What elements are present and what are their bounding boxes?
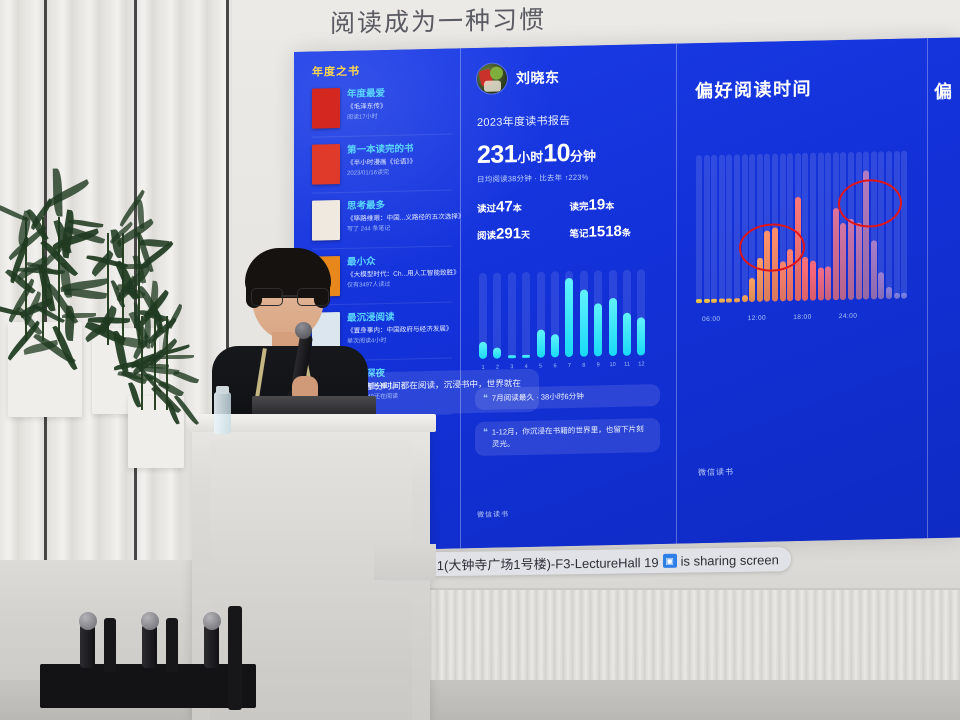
- podium-occlusion: [374, 544, 436, 580]
- hours-unit: 小时: [517, 150, 543, 166]
- chart-bar-track: [742, 154, 748, 302]
- chart-bar: [522, 355, 530, 358]
- chart-bar-track: [886, 151, 892, 299]
- chart-bar: [551, 334, 559, 357]
- stat-item: 读完19本: [570, 195, 663, 215]
- chart-bar: [508, 355, 516, 358]
- chart-bar: [704, 299, 710, 303]
- hourly-reading-chart: 06:0012:0018:0024:00: [694, 134, 916, 325]
- stat-item: 读过47本: [477, 197, 570, 217]
- book-meta: 阅读17小时: [347, 112, 387, 122]
- chart-bar: [493, 347, 501, 358]
- monthly-quote-2: ❝ 1-12月，你沉浸在书籍的世界里，也留下片刻灵光。: [475, 418, 660, 456]
- screen-share-icon: ▣: [663, 554, 677, 568]
- chart-bar: [565, 278, 573, 357]
- chart-x-label: 9: [593, 362, 603, 368]
- year-books-title: 年度之书: [312, 61, 452, 80]
- preferred-time-title: 偏好阅读时间: [695, 72, 913, 103]
- next-panel-glyph: 偏: [934, 77, 960, 104]
- book-cover: [312, 88, 340, 129]
- chart-bar: [734, 298, 740, 302]
- average-reading-line: 日均阅读38分钟 · 比去年 ↑223%: [477, 170, 662, 185]
- avatar: [477, 63, 507, 94]
- stat-unit: 天: [521, 230, 530, 240]
- chart-bar: [878, 272, 884, 299]
- chart-x-label: 12: [636, 361, 646, 367]
- stat-label: 阅读: [477, 231, 496, 242]
- total-hours-value: 231: [477, 140, 517, 169]
- chart-bar: [840, 223, 846, 300]
- chart-bar: [901, 293, 907, 299]
- chart-bar: [537, 329, 545, 358]
- radiator-grille: [420, 588, 960, 684]
- chart-bar: [726, 298, 732, 302]
- chart-bar: [818, 268, 824, 301]
- book-award-label: 第一本读完的书: [347, 143, 416, 157]
- quote-mark-icon: ❝: [483, 427, 488, 451]
- chart-x-label: 18:00: [793, 314, 812, 321]
- microphone-body: [80, 624, 95, 668]
- chart-bar: [696, 299, 702, 303]
- stat-value: 1518: [589, 223, 622, 241]
- slide-heading: 阅读成为一种习惯: [330, 0, 546, 40]
- glasses-icon: [251, 288, 327, 304]
- screenshot-root: 阅读成为一种习惯 年度之书 年度最爱《毛泽东传》阅读17小时第一本读完的书《半小…: [0, 0, 960, 720]
- chart-bar-track: [696, 155, 702, 303]
- annual-report-panel: 刘晓东 2023年度读书报告 231小时10分钟 日均阅读38分钟 · 比去年 …: [461, 44, 676, 549]
- stat-item: 阅读291天: [477, 224, 570, 244]
- report-year-label: 2023年度读书报告: [477, 110, 662, 130]
- curtain-rod: [134, 0, 137, 600]
- chart-x-label: 12:00: [748, 315, 767, 322]
- chart-x-label: 8: [579, 363, 589, 369]
- total-minutes-value: 10: [543, 139, 570, 168]
- chart-x-label: 10: [608, 362, 618, 368]
- user-name: 刘晓东: [516, 67, 560, 88]
- book-meta: 写了 244 条笔记: [347, 223, 452, 234]
- chart-bar: [825, 266, 831, 300]
- stat-value: 19: [589, 196, 606, 213]
- book-cover: [312, 200, 340, 241]
- chart-bar-track: [726, 154, 732, 302]
- watermark-right: 微信读书: [698, 466, 734, 478]
- chart-bar-track: [704, 155, 710, 303]
- chart-x-label: 24:00: [839, 313, 858, 320]
- book-title: 《毛泽东传》: [347, 101, 387, 112]
- chart-bar: [609, 297, 617, 356]
- stat-unit: 本: [605, 201, 614, 211]
- book-award-label: 思考最多: [347, 199, 452, 213]
- water-bottle-cap: [216, 386, 229, 394]
- chart-x-label: 06:00: [702, 316, 721, 323]
- microphone-head-icon: [141, 612, 159, 630]
- chart-bar: [848, 218, 854, 300]
- user-row: 刘晓东: [477, 60, 662, 94]
- book-meta: 2023/01/16读完: [347, 168, 416, 179]
- mic-stand-clip: [166, 618, 178, 672]
- chart-bar-track: [894, 151, 900, 299]
- chart-bar: [856, 223, 862, 300]
- chart-bar-track: [901, 151, 907, 299]
- chart-bar-track: [493, 272, 501, 358]
- plant-leaf: [63, 305, 75, 340]
- book-award-label: 年度最爱: [347, 88, 387, 101]
- chart-bar: [623, 313, 631, 356]
- watermark-left: 微信读书: [477, 509, 509, 520]
- chart-bar: [833, 208, 839, 300]
- book-list-item: 思考最多《筚路维艰：中国...义路径的五次选择》写了 244 条笔记: [312, 198, 452, 241]
- monthly-reading-chart: 123456789101112: [477, 262, 657, 371]
- chart-bar: [810, 261, 816, 301]
- stand-post: [228, 606, 242, 710]
- stat-label: 读过: [477, 204, 496, 215]
- stat-unit: 条: [622, 228, 631, 238]
- chart-bar-track: [734, 154, 740, 302]
- chart-x-label: 11: [622, 362, 632, 368]
- monthly-quote-2-text: 1-12月，你沉浸在书籍的世界里，也留下片刻灵光。: [492, 423, 651, 450]
- chart-bar: [711, 299, 717, 303]
- microphone-body: [204, 624, 219, 668]
- stat-unit: 本: [513, 203, 522, 213]
- chart-bar: [580, 290, 588, 357]
- sharing-status-text: is sharing screen: [681, 552, 779, 568]
- chart-x-label: 5: [536, 364, 546, 370]
- chart-bar: [742, 295, 748, 303]
- water-bottle: [214, 392, 231, 434]
- microphone-head-icon: [79, 612, 97, 630]
- chart-bar-track: [508, 272, 516, 358]
- mic-charging-tray: [40, 664, 256, 708]
- stat-value: 47: [496, 198, 513, 215]
- chart-bar-track: [711, 155, 717, 303]
- chart-bar: [871, 240, 877, 299]
- chart-x-label: 6: [550, 363, 560, 369]
- chart-x-label: 7: [564, 363, 574, 369]
- microphone-head-icon: [203, 612, 221, 630]
- total-reading-time: 231小时10分钟: [477, 137, 662, 170]
- chart-bar: [594, 303, 602, 356]
- chart-bar: [479, 342, 487, 359]
- chart-bar: [749, 278, 755, 302]
- stat-label: 读完: [570, 202, 589, 213]
- microphone-body: [142, 624, 157, 668]
- chart-bar-track: [522, 272, 530, 358]
- stats-grid: 读过47本读完19本阅读291天笔记1518条: [477, 195, 662, 253]
- list-divider: [312, 190, 452, 194]
- book-list-item: 年度最爱《毛泽东传》阅读17小时: [312, 86, 452, 129]
- chart-bar: [719, 299, 725, 303]
- next-panel-clipped: 偏: [928, 37, 960, 538]
- chart-bar: [637, 318, 645, 356]
- chart-bar-track: [719, 155, 725, 303]
- chart-bar: [802, 256, 808, 301]
- mic-stand-clip: [104, 618, 116, 672]
- chart-bar: [894, 293, 900, 299]
- list-divider: [312, 134, 452, 138]
- stat-label: 笔记: [570, 229, 589, 240]
- book-title: 《半小时漫画《论语》》: [347, 157, 416, 169]
- chart-bar: [886, 287, 892, 299]
- stat-value: 291: [496, 225, 521, 243]
- minutes-unit: 分钟: [570, 148, 596, 164]
- book-cover: [312, 144, 340, 185]
- stat-item: 笔记1518条: [570, 222, 663, 242]
- book-list-item: 第一本读完的书《半小时漫画《论语》》2023/01/16读完: [312, 142, 452, 185]
